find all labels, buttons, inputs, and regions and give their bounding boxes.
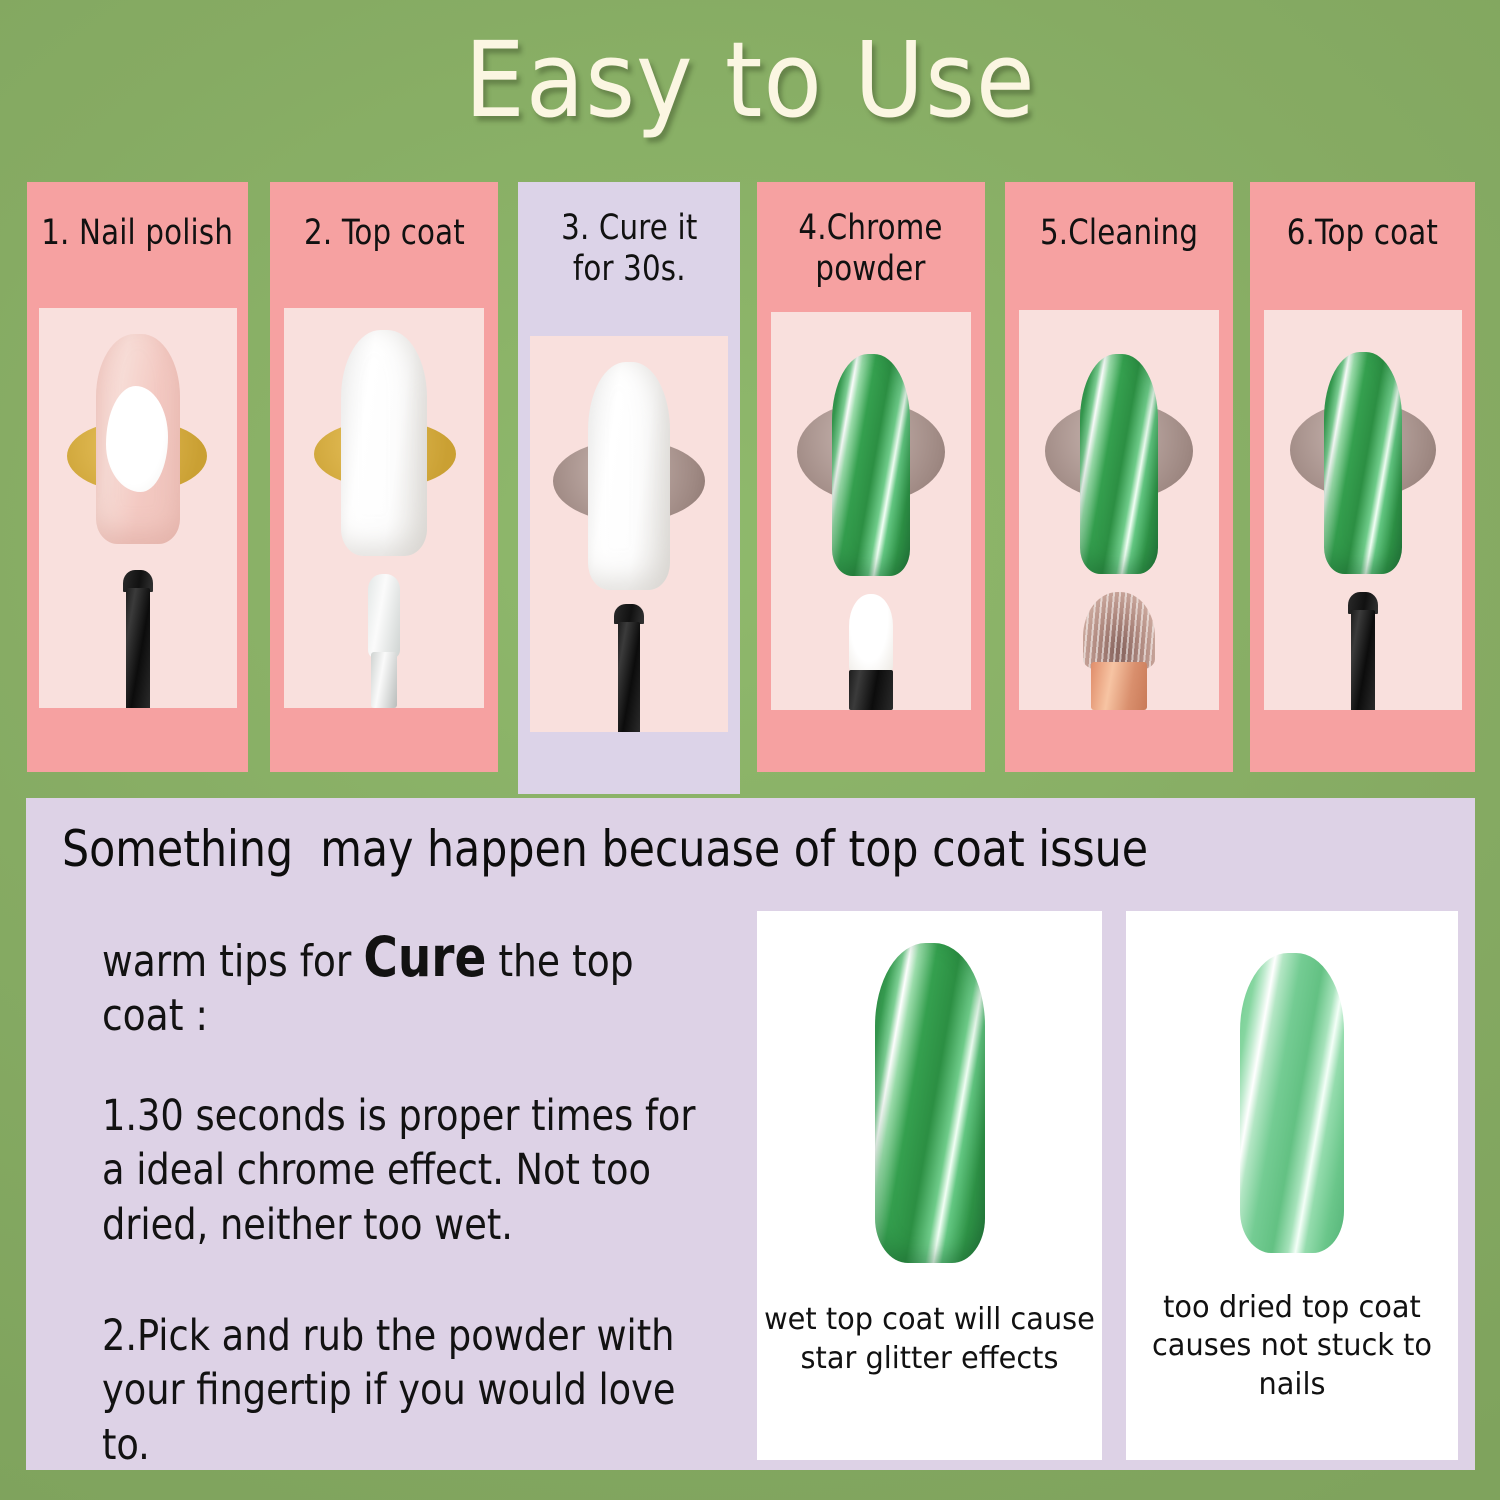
step-card-6-label: 6.Top coat xyxy=(1281,182,1444,254)
nail-white-cured-icon xyxy=(588,362,670,590)
step-card-1[interactable]: 1. Nail polish xyxy=(27,182,248,772)
step-photo-3 xyxy=(530,336,728,732)
warm-tips-block: warm tips for Cure the top coat : 1.30 s… xyxy=(102,924,742,1472)
panel-heading: Something may happen becuase of top coat… xyxy=(62,822,1373,877)
step-card-2-label: 2. Top coat xyxy=(298,182,470,254)
example-card-dried[interactable]: too dried top coat causes not stuck to n… xyxy=(1126,911,1458,1460)
nail-green-chrome-icon xyxy=(832,354,910,576)
white-polish-smear-icon xyxy=(106,386,168,492)
green-chrome-nail-icon xyxy=(875,943,985,1263)
step-card-5-label: 5.Cleaning xyxy=(1034,182,1203,254)
polish-brush-handle-icon xyxy=(126,588,150,708)
step-card-1-label: 1. Nail polish xyxy=(36,182,239,254)
pale-green-chrome-nail-icon xyxy=(1240,953,1344,1253)
steps-row: 1. Nail polish 2. Top coat 3. Cure it fo… xyxy=(27,182,1475,794)
step-photo-6 xyxy=(1264,310,1462,710)
warm-tip-2: 2.Pick and rub the powder with your fing… xyxy=(102,1309,710,1473)
step-card-4-label: 4.Chrome powder xyxy=(793,182,948,290)
polish-brush-neck-icon xyxy=(614,604,644,624)
topcoat-issue-panel: Something may happen becuase of top coat… xyxy=(26,798,1475,1470)
polish-brush-handle-icon xyxy=(1351,610,1375,710)
warm-tips-headline: warm tips for Cure the top coat : xyxy=(102,924,710,1043)
applicator-handle-icon xyxy=(849,670,893,710)
warm-tip-1: 1.30 seconds is proper times for a ideal… xyxy=(102,1089,710,1253)
step-card-3-label: 3. Cure it for 30s. xyxy=(555,182,703,290)
nail-green-chrome-icon xyxy=(1080,354,1158,574)
step-card-3[interactable]: 3. Cure it for 30s. xyxy=(518,182,740,794)
chrome-powder-applicator-icon xyxy=(849,594,893,674)
topcoat-brush-handle-icon xyxy=(371,652,397,708)
cleaning-brush-ferrule-icon xyxy=(1091,662,1147,710)
step-card-6[interactable]: 6.Top coat xyxy=(1250,182,1475,772)
step-card-4[interactable]: 4.Chrome powder xyxy=(757,182,985,772)
warm-tips-cure-emphasis: Cure xyxy=(363,925,486,989)
nail-white-topcoat-icon xyxy=(341,330,427,556)
example-card-wet-caption: wet top coat will cause star glitter eff… xyxy=(764,1301,1095,1378)
step-card-5[interactable]: 5.Cleaning xyxy=(1005,182,1233,772)
cleaning-brush-bristles-icon xyxy=(1083,592,1155,670)
step-photo-2 xyxy=(284,308,484,708)
warm-tips-prefix: warm tips for xyxy=(102,936,363,987)
step-card-2[interactable]: 2. Top coat xyxy=(270,182,498,772)
infographic-root: Easy to Use 1. Nail polish 2. Top coat xyxy=(0,0,1500,1500)
nail-green-topcoat-icon xyxy=(1324,352,1402,574)
example-card-wet[interactable]: wet top coat will cause star glitter eff… xyxy=(757,911,1102,1460)
example-card-dried-caption: too dried top coat causes not stuck to n… xyxy=(1133,1289,1452,1404)
step-photo-1 xyxy=(39,308,237,708)
step-photo-5 xyxy=(1019,310,1219,710)
page-title: Easy to Use xyxy=(60,26,1440,135)
step-photo-4 xyxy=(771,312,971,710)
polish-brush-handle-icon xyxy=(618,622,640,732)
wet-topcoat-brush-icon xyxy=(368,574,400,658)
